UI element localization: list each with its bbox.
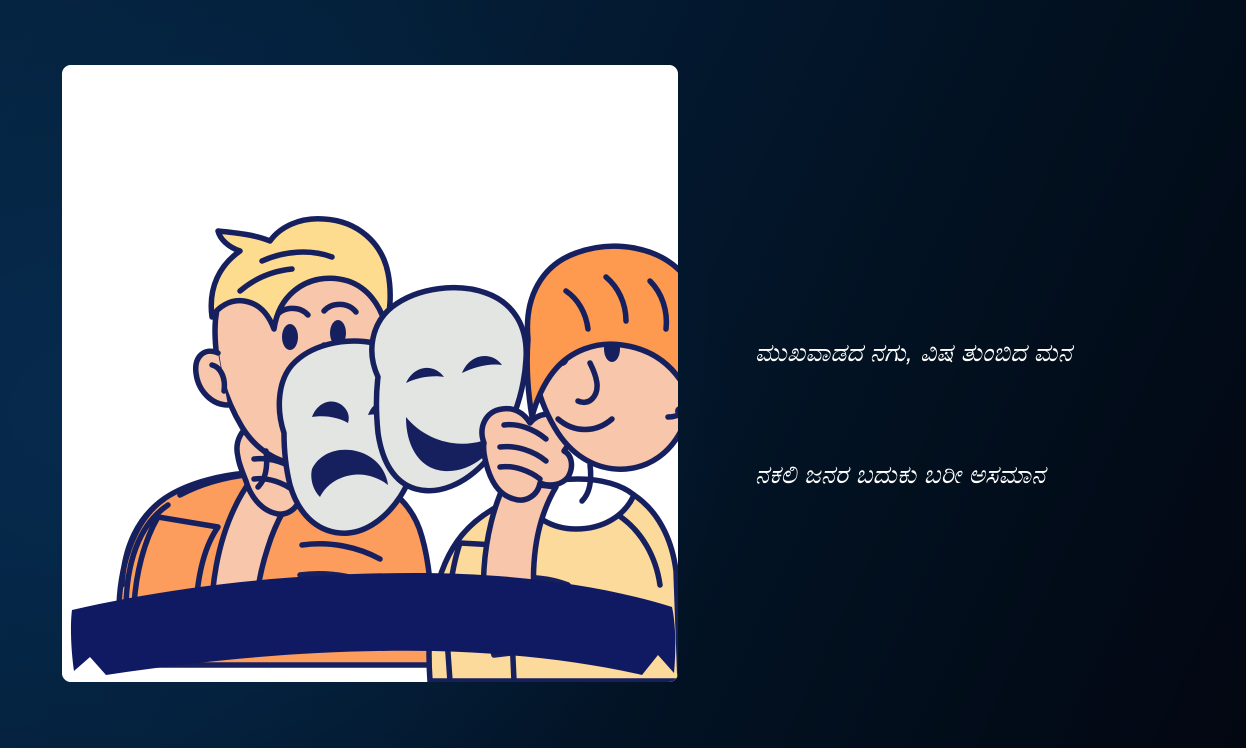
illustration-card (62, 65, 678, 682)
quote-text: ಮುಖವಾಡದ ನಗು, ವಿಷ ತುಂಬಿದ ಮನ ನಕಲಿ ಜನರ ಬದುಕ… (755, 252, 1195, 576)
page-root: ಮುಖವಾಡದ ನಗು, ವಿಷ ತುಂಬಿದ ಮನ ನಕಲಿ ಜನರ ಬದುಕ… (0, 0, 1246, 748)
quote-line-2: ನಕಲಿ ಜನರ ಬದುಕು ಬರೀ ಅಸಮಾನ (755, 455, 1195, 496)
theatre-masks-illustration (62, 65, 678, 682)
quote-line-1: ಮುಖವಾಡದ ನಗು, ವಿಷ ತುಂಬಿದ ಮನ (755, 333, 1195, 374)
